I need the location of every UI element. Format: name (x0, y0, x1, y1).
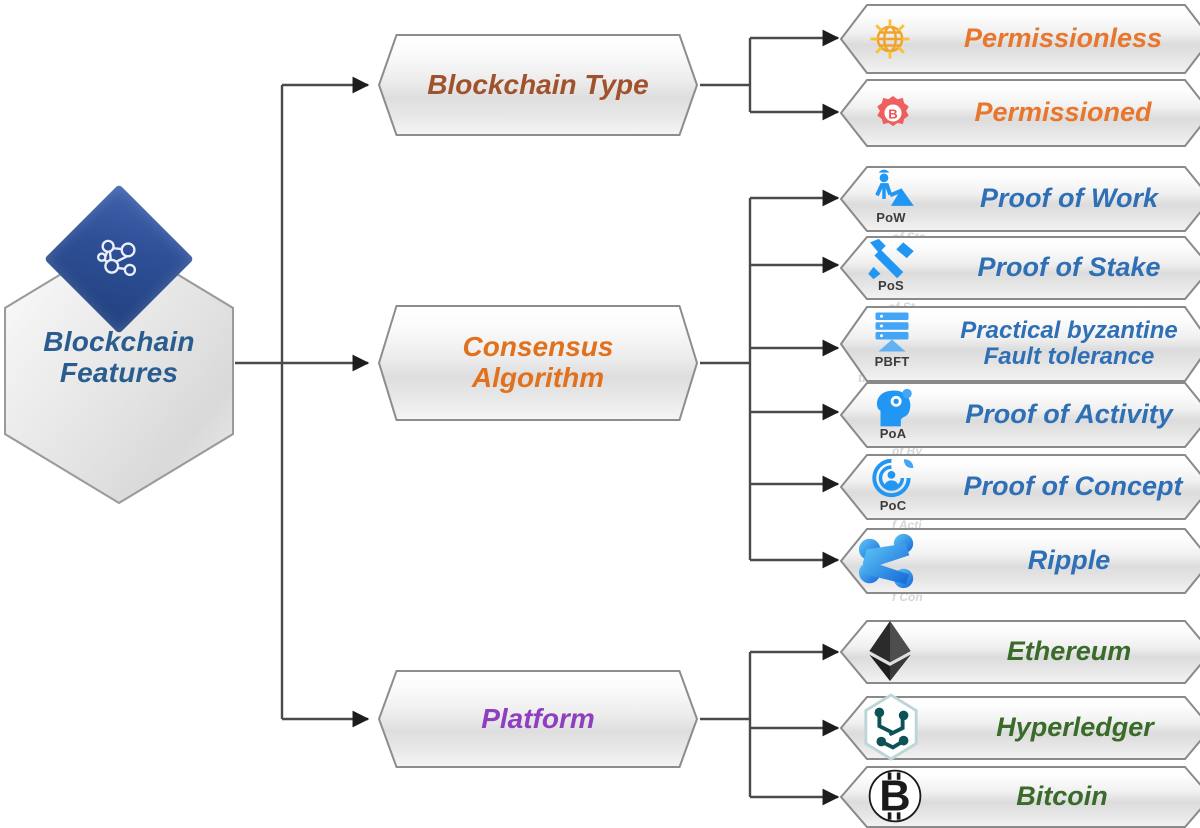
leaf-node-permissionless[interactable]: Permissionless (840, 4, 1200, 74)
leaf-caption: PoS (862, 278, 920, 293)
leaf-node-proof-of-activity[interactable]: PoA Proof of Activity (840, 382, 1200, 448)
leaf-label: Proof of Stake (944, 236, 1194, 300)
leaf-label: Practical byzantine Fault tolerance (936, 306, 1200, 382)
leaf-caption: PoA (866, 426, 920, 441)
leaf-caption: PoW (862, 210, 920, 225)
leaf-label: Proof of Activity (940, 382, 1198, 448)
leaf-node-hyperledger[interactable]: Hyperledger (840, 696, 1200, 760)
leaf-node-ethereum[interactable]: Ethereum (840, 620, 1200, 684)
leaf-caption: PoC (866, 498, 920, 513)
branch-node-platform[interactable]: Platform (378, 670, 698, 768)
diagram-canvas: Blockchain Features Blockchain Type Cons… (0, 0, 1200, 828)
leaf-node-proof-of-concept[interactable]: PoC Proof of Concept (840, 454, 1200, 520)
branch-node-consensus-algorithm[interactable]: Consensus Algorithm (378, 305, 698, 421)
root-node-blockchain-features[interactable]: Blockchain Features (4, 238, 234, 504)
leaf-label: Proof of Concept (940, 454, 1200, 520)
leaf-label: Ethereum (948, 620, 1190, 684)
leaf-label: Bitcoin (952, 766, 1172, 828)
leaf-node-practical-byzantine-fault-tolerance[interactable]: PBFT Practical byzantine Fault tolerance (840, 306, 1200, 382)
leaf-caption: PBFT (866, 354, 918, 369)
branch-label: Blockchain Type (397, 34, 679, 136)
leaf-node-permissioned[interactable]: B Permissioned (840, 79, 1200, 147)
root-diamond-badge (44, 184, 194, 334)
leaf-label: Ripple (940, 528, 1198, 594)
leaf-node-proof-of-stake[interactable]: PoS Proof of Stake (840, 236, 1200, 300)
leaf-label: Permissioned (936, 79, 1190, 147)
leaf-label: Hyperledger (948, 696, 1200, 760)
leaf-node-ripple[interactable]: Ripple (840, 528, 1200, 594)
leaf-node-proof-of-work[interactable]: PoW Proof of Work (840, 166, 1200, 232)
branch-label: Consensus Algorithm (397, 305, 679, 421)
leaf-node-bitcoin[interactable]: B Bitcoin (840, 766, 1200, 828)
blockchain-network-icon (66, 206, 172, 312)
branch-label: Platform (397, 670, 679, 768)
branch-node-blockchain-type[interactable]: Blockchain Type (378, 34, 698, 136)
leaf-label: Proof of Work (944, 166, 1194, 232)
leaf-label: Permissionless (936, 4, 1190, 74)
